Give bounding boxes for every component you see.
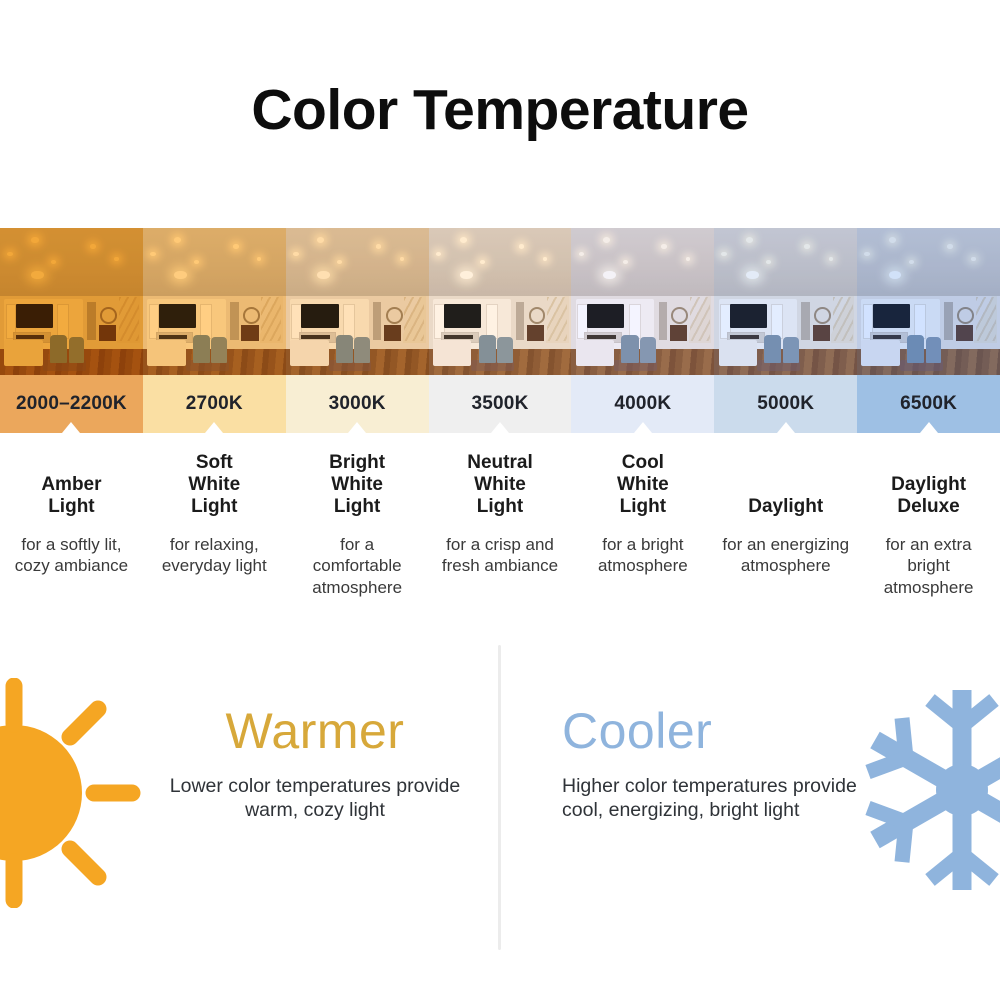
- description-column: Daylightfor an energizing atmosphere: [714, 450, 857, 598]
- swatch-notch-marker: [491, 422, 509, 433]
- light-name-line: White: [617, 474, 669, 496]
- room-photo: [286, 228, 429, 375]
- kelvin-swatch: 3000K: [286, 375, 429, 433]
- swatch-notch-marker: [348, 422, 366, 433]
- cooler-description: Higher color temperatures provide cool, …: [562, 774, 902, 823]
- swatch-notch-marker: [777, 422, 795, 433]
- description-column: DaylightDeluxefor an extra bright atmosp…: [857, 450, 1000, 598]
- description-column: CoolWhiteLightfor a bright atmosphere: [571, 450, 714, 598]
- light-description: for a crisp and fresh ambiance: [437, 534, 564, 577]
- kelvin-label: 6500K: [900, 393, 957, 415]
- scale-column: 6500K: [857, 228, 1000, 433]
- kelvin-label: 5000K: [757, 393, 814, 415]
- light-name-line: Light: [620, 496, 666, 518]
- description-column: SoftWhiteLightfor relaxing, everyday lig…: [143, 450, 286, 598]
- room-photo: [571, 228, 714, 375]
- warm-cool-section: Warmer Lower color temperatures provide …: [0, 650, 1000, 1000]
- room-photo: [0, 228, 143, 375]
- description-column: BrightWhiteLightfor a comfortable atmosp…: [286, 450, 429, 598]
- sun-icon: [0, 678, 152, 908]
- photo-wash-overlay: [286, 228, 429, 375]
- room-photo: [429, 228, 572, 375]
- scale-column: 3500K: [429, 228, 572, 433]
- kelvin-swatch: 3500K: [429, 375, 572, 433]
- room-photo: [714, 228, 857, 375]
- light-name: Daylight: [722, 450, 849, 518]
- light-name-line: Neutral: [467, 452, 532, 474]
- light-description: for an energizing atmosphere: [722, 534, 849, 577]
- light-name-line: Deluxe: [897, 496, 959, 518]
- light-name-line: Cool: [622, 452, 664, 474]
- kelvin-swatch: 2700K: [143, 375, 286, 433]
- description-column: AmberLightfor a softly lit, cozy ambianc…: [0, 450, 143, 598]
- cooler-heading: Cooler: [562, 705, 902, 758]
- kelvin-label: 4000K: [614, 393, 671, 415]
- kelvin-swatch: 2000–2200K: [0, 375, 143, 433]
- light-name-line: White: [188, 474, 240, 496]
- light-name: SoftWhiteLight: [151, 450, 278, 518]
- light-name-line: Light: [477, 496, 523, 518]
- light-name: NeutralWhiteLight: [437, 450, 564, 518]
- light-description: for a softly lit, cozy ambiance: [8, 534, 135, 577]
- kelvin-swatch: 4000K: [571, 375, 714, 433]
- light-name: DaylightDeluxe: [865, 450, 992, 518]
- light-name-line: Daylight: [891, 474, 966, 496]
- swatch-notch-marker: [205, 422, 223, 433]
- swatch-notch-marker: [634, 422, 652, 433]
- light-name: BrightWhiteLight: [294, 450, 421, 518]
- photo-wash-overlay: [857, 228, 1000, 375]
- scale-column: 4000K: [571, 228, 714, 433]
- photo-wash-overlay: [714, 228, 857, 375]
- kelvin-label: 3000K: [329, 393, 386, 415]
- color-temperature-scale: 2000–2200K2700K3000K3500K4000K5000K6500K: [0, 228, 1000, 433]
- light-name-line: White: [474, 474, 526, 496]
- photo-wash-overlay: [143, 228, 286, 375]
- kelvin-label: 2000–2200K: [16, 393, 127, 415]
- light-name-line: Light: [48, 496, 94, 518]
- swatch-notch-marker: [62, 422, 80, 433]
- photo-wash-overlay: [571, 228, 714, 375]
- light-description: for an extra bright atmosphere: [865, 534, 992, 598]
- scale-column: 2700K: [143, 228, 286, 433]
- light-name-line: Amber: [41, 474, 101, 496]
- room-photo: [857, 228, 1000, 375]
- kelvin-swatch: 6500K: [857, 375, 1000, 433]
- light-name-line: Light: [334, 496, 380, 518]
- warmer-description: Lower color temperatures provide warm, c…: [150, 774, 480, 823]
- cooler-block: Cooler Higher color temperatures provide…: [562, 705, 902, 823]
- light-description: for a bright atmosphere: [579, 534, 706, 577]
- photo-wash-overlay: [429, 228, 572, 375]
- light-name-line: Light: [191, 496, 237, 518]
- light-name: AmberLight: [8, 450, 135, 518]
- light-name-line: Soft: [196, 452, 233, 474]
- photo-wash-overlay: [0, 228, 143, 375]
- kelvin-swatch: 5000K: [714, 375, 857, 433]
- warmer-block: Warmer Lower color temperatures provide …: [150, 705, 480, 823]
- color-temperature-descriptions: AmberLightfor a softly lit, cozy ambianc…: [0, 450, 1000, 598]
- light-name-line: Daylight: [748, 496, 823, 518]
- light-description: for relaxing, everyday light: [151, 534, 278, 577]
- light-name-line: White: [331, 474, 383, 496]
- kelvin-label: 2700K: [186, 393, 243, 415]
- warmer-heading: Warmer: [150, 705, 480, 758]
- scale-column: 5000K: [714, 228, 857, 433]
- light-description: for a comfortable atmosphere: [294, 534, 421, 598]
- swatch-notch-marker: [920, 422, 938, 433]
- scale-column: 2000–2200K: [0, 228, 143, 433]
- snowflake-icon: [852, 680, 1000, 900]
- kelvin-label: 3500K: [472, 393, 529, 415]
- light-name: CoolWhiteLight: [579, 450, 706, 518]
- description-column: NeutralWhiteLightfor a crisp and fresh a…: [429, 450, 572, 598]
- light-name-line: Bright: [329, 452, 385, 474]
- room-photo: [143, 228, 286, 375]
- page-title: Color Temperature: [0, 82, 1000, 139]
- scale-column: 3000K: [286, 228, 429, 433]
